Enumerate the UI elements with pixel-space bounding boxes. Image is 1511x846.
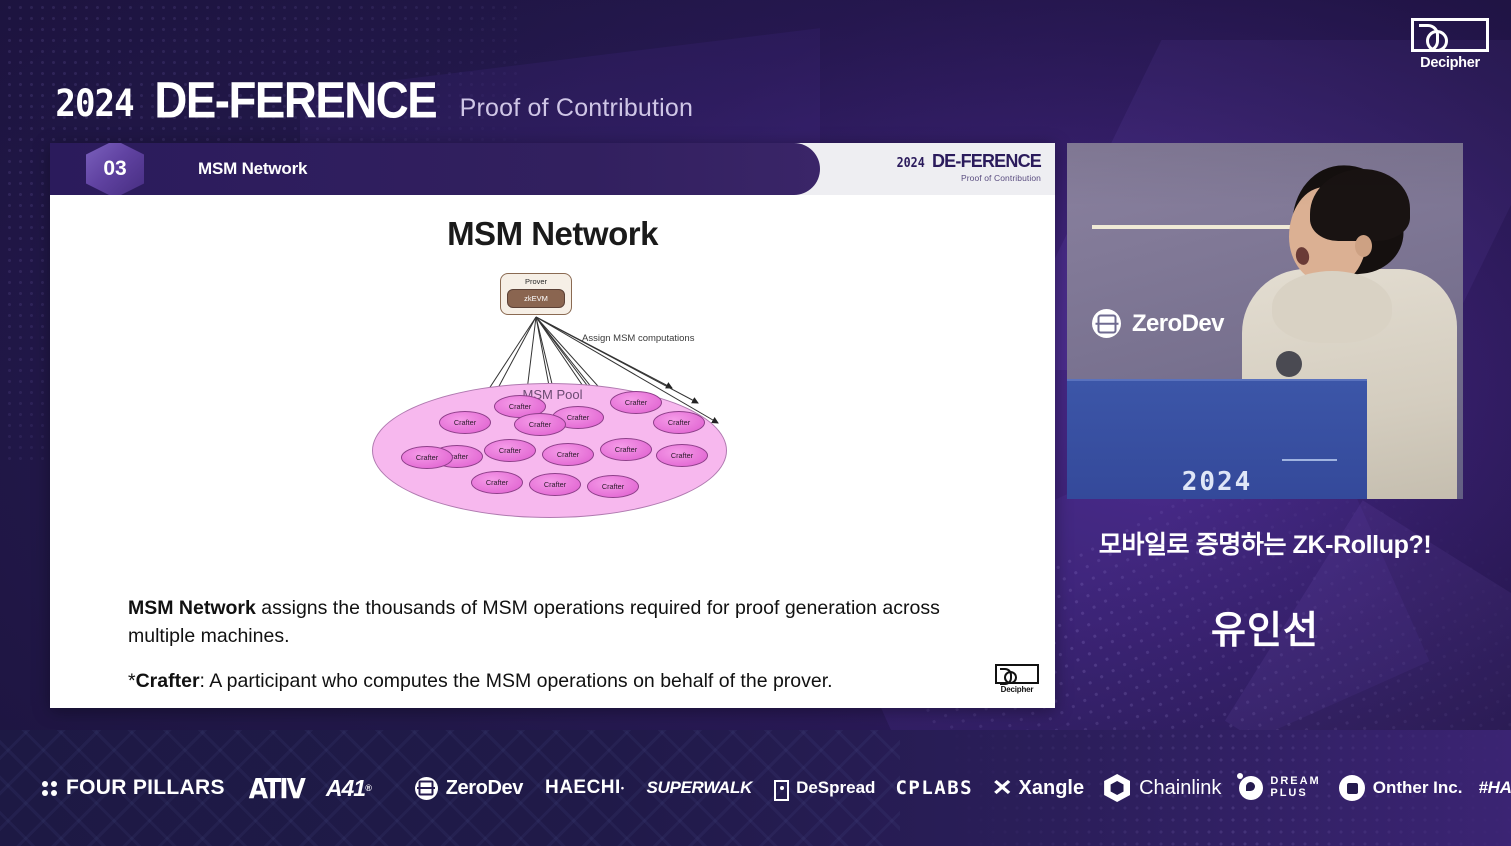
decipher-mark-icon	[1411, 18, 1489, 52]
msm-pool-label: MSM Pool	[50, 387, 1055, 402]
msm-network-diagram: MSM Pool CrafterCrafterCrafterCrafterCra…	[50, 255, 1055, 575]
sponsor-zerodev[interactable]: ZeroDev	[415, 777, 523, 800]
sponsor-onther[interactable]: Onther Inc.	[1339, 775, 1463, 801]
event-tagline: Proof of Contribution	[460, 94, 694, 123]
sponsor-chainlink-label: Chainlink	[1139, 777, 1221, 800]
slide-section-number: 03	[86, 143, 144, 198]
crafter-node: Crafter	[653, 411, 705, 434]
sponsor-a41[interactable]: A41®	[326, 775, 371, 802]
speaker-panel: ZeroDev H 2024 모바일로 증명하는 ZK-Rollup?! 유인선	[1067, 143, 1463, 654]
sponsor-despread-label: DeSpread	[796, 778, 875, 798]
dreamplus-icon	[1239, 776, 1263, 800]
crafter-node: Crafter	[587, 475, 639, 498]
slide-body-text: MSM Network assigns the thousands of MSM…	[128, 595, 958, 696]
paragraph-2-bold: Crafter	[136, 670, 200, 692]
video-overlay	[1067, 143, 1463, 499]
crafter-node: Crafter	[542, 443, 594, 466]
sponsor-dreamplus-label: DREAM PLUS	[1270, 776, 1320, 799]
presentation-slide: 03 MSM Network 2024 DE-FERENCE Proof of …	[50, 143, 1055, 708]
dreamplus-line-1: DREAM	[1270, 775, 1320, 787]
crafter-node: Crafter	[656, 444, 708, 467]
page-header: 2024 DE-FERENCE Proof of Contribution De…	[0, 0, 1511, 140]
sponsor-haechi-label: HAECHI	[545, 777, 621, 799]
prover-label: Prover	[525, 277, 547, 286]
decipher-mark-icon	[995, 664, 1039, 684]
slide-brand-name: DE-FERENCE	[932, 151, 1041, 172]
sponsor-bar: FOUR PILLARS ATIV A41® ZeroDev HAECHI• S…	[0, 730, 1511, 846]
sponsor-haechi[interactable]: HAECHI•	[545, 777, 625, 799]
zerodev-icon	[415, 777, 438, 800]
slide-brand-mark: 2024 DE-FERENCE Proof of Contribution	[895, 151, 1041, 183]
onther-icon	[1339, 775, 1365, 801]
slide-brand-year: 2024	[896, 156, 924, 171]
event-title: 2024 DE-FERENCE Proof of Contribution	[52, 72, 693, 127]
talk-title: 모바일로 증명하는 ZK-Rollup?!	[1067, 525, 1463, 561]
speaker-video-feed[interactable]: ZeroDev H 2024	[1067, 143, 1463, 499]
sponsor-superwalk-label: SUPERWALK	[646, 778, 752, 798]
slide-title: MSM Network	[50, 215, 1055, 253]
slide-content: MSM Network MSM Pool CrafterCrafterCraft…	[50, 195, 1055, 708]
slide-decipher-text: Decipher	[995, 685, 1039, 694]
crafter-node: Crafter	[471, 471, 523, 494]
sponsor-hashed-label: #HASHED	[1478, 778, 1511, 798]
paragraph-2-prefix: *	[128, 670, 136, 692]
four-dots-icon	[42, 781, 57, 796]
sponsor-xangle-label: Xangle	[1019, 777, 1085, 800]
speaker-name: 유인선	[1067, 599, 1463, 654]
slide-header-band	[50, 143, 820, 195]
zkevm-box: zkEVM	[507, 289, 565, 308]
paragraph-msm-network: MSM Network assigns the thousands of MSM…	[128, 595, 958, 650]
sponsor-onther-label: Onther Inc.	[1373, 778, 1463, 798]
sponsor-chainlink[interactable]: Chainlink	[1104, 774, 1221, 802]
event-name: DE-FERENCE	[154, 70, 436, 129]
assign-arrow-label: Assign MSM computations	[582, 333, 694, 344]
crafter-node: Crafter	[401, 446, 453, 469]
sponsor-cplabs-label: CPLABS	[895, 777, 973, 799]
crafter-node: Crafter	[600, 438, 652, 461]
sponsor-ativ-label: ATIV	[249, 772, 304, 804]
sponsor-four-pillars[interactable]: FOUR PILLARS	[42, 776, 225, 800]
slide-header-bar: 03 MSM Network 2024 DE-FERENCE Proof of …	[50, 143, 1055, 195]
crafter-node: Crafter	[514, 413, 566, 436]
paragraph-crafter: *Crafter: A participant who computes the…	[128, 668, 958, 696]
decipher-logo-text: Decipher	[1411, 55, 1489, 71]
slide-decipher-logo: Decipher	[995, 664, 1039, 694]
sponsor-hashed[interactable]: #HASHED	[1478, 778, 1511, 798]
xangle-x-icon: ✕	[992, 775, 1013, 801]
sponsor-dreamplus[interactable]: DREAM PLUS	[1239, 776, 1320, 800]
despread-icon	[774, 780, 789, 797]
event-year: 2024	[55, 82, 133, 125]
crafter-node: Crafter	[439, 411, 491, 434]
chainlink-hex-icon	[1104, 774, 1130, 802]
sponsor-ativ[interactable]: ATIV	[249, 772, 304, 804]
sponsor-superwalk[interactable]: SUPERWALK	[646, 778, 752, 798]
crafter-node: Crafter	[529, 473, 581, 496]
crafter-node: Crafter	[484, 439, 536, 462]
slide-brand-tagline: Proof of Contribution	[895, 173, 1041, 183]
sponsor-a41-label: A41	[326, 775, 365, 802]
sponsor-zerodev-label: ZeroDev	[446, 777, 523, 800]
paragraph-1-bold: MSM Network	[128, 597, 256, 619]
sponsor-cplabs[interactable]: CPLABS	[895, 777, 973, 799]
crafter-node: Crafter	[610, 391, 662, 414]
sponsor-four-pillars-label: FOUR PILLARS	[66, 776, 225, 800]
prover-box: Prover zkEVM	[500, 273, 572, 315]
slide-section-title: MSM Network	[198, 143, 307, 195]
dreamplus-line-2: PLUS	[1270, 787, 1307, 799]
sponsor-xangle[interactable]: ✕ Xangle	[993, 775, 1084, 801]
decipher-logo: Decipher	[1411, 18, 1489, 71]
sponsor-despread[interactable]: DeSpread	[774, 778, 875, 798]
paragraph-2-rest: : A participant who computes the MSM ope…	[200, 670, 833, 692]
